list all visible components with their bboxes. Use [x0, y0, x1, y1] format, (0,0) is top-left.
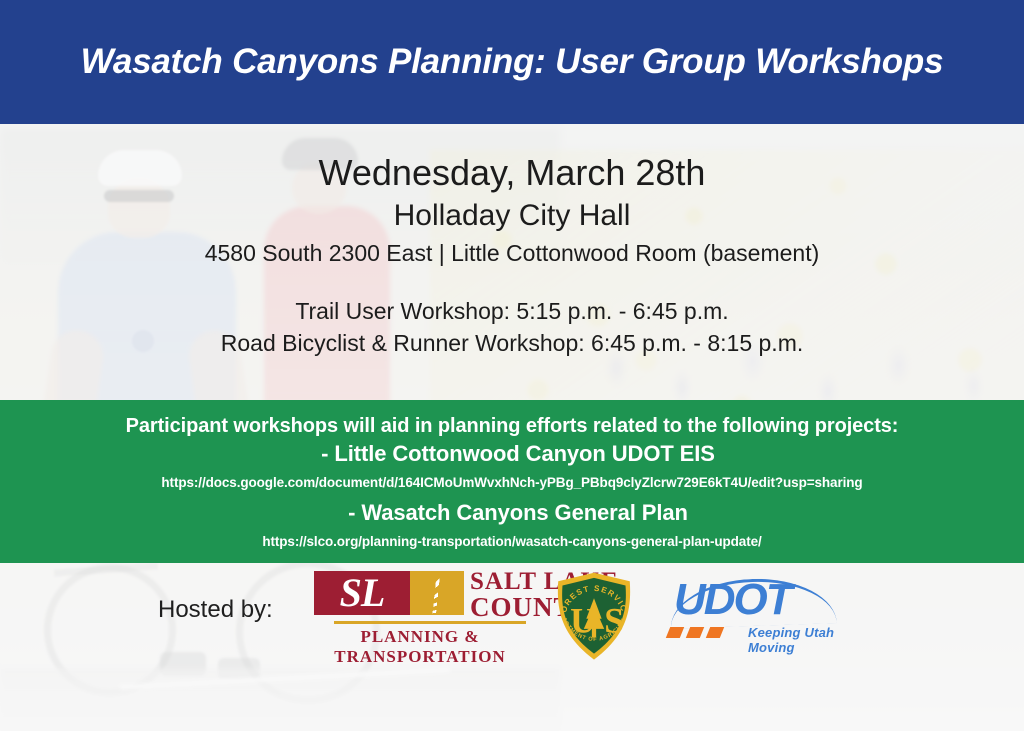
- udot-logo: UDOT Keeping Utah Moving: [660, 577, 840, 647]
- projects-band: Participant workshops will aid in planni…: [0, 400, 1024, 563]
- flyer-poster: Wasatch Canyons Planning: User Group Wor…: [0, 0, 1024, 731]
- session-item-road-bicyclist-runner: Road Bicyclist & Runner Workshop: 6:45 p…: [0, 327, 1024, 359]
- slco-divider-rule: [334, 621, 526, 624]
- page-title: Wasatch Canyons Planning: User Group Wor…: [81, 42, 944, 82]
- header-banner: Wasatch Canyons Planning: User Group Wor…: [0, 0, 1024, 124]
- projects-lead-text: Participant workshops will aid in planni…: [0, 400, 1024, 439]
- project-item-url-wasatch-general-plan[interactable]: https://slco.org/planning-transportation…: [0, 531, 1024, 553]
- project-item-url-lcc-udot-eis[interactable]: https://docs.google.com/document/d/164IC…: [0, 472, 1024, 494]
- event-details: Wednesday, March 28th Holladay City Hall…: [0, 150, 1024, 270]
- event-date: Wednesday, March 28th: [0, 150, 1024, 196]
- event-address: 4580 South 2300 East | Little Cottonwood…: [0, 236, 1024, 270]
- udot-wordmark: UDOT: [674, 577, 791, 623]
- session-item-trail-user: Trail User Workshop: 5:15 p.m. - 6:45 p.…: [0, 295, 1024, 327]
- project-item-name-wasatch-general-plan: - Wasatch Canyons General Plan: [0, 498, 1024, 528]
- slco-sunburst-icon: [410, 571, 464, 615]
- udot-tagline: Keeping Utah Moving: [748, 625, 840, 655]
- forest-service-shield-icon: FOREST SERVICE U S DEPARTMENT OF AGRICUL…: [551, 571, 637, 663]
- slco-department-lines: PLANNING & TRANSPORTATION: [314, 627, 526, 667]
- session-list: Trail User Workshop: 5:15 p.m. - 6:45 p.…: [0, 295, 1024, 359]
- footer-logos: Hosted by: SL SALT LAKE COUNTY PLANNING …: [0, 563, 1024, 731]
- project-item-name-lcc-udot-eis: - Little Cottonwood Canyon UDOT EIS: [0, 439, 1024, 469]
- slco-monogram-text: SL: [314, 571, 410, 615]
- event-venue: Holladay City Hall: [0, 196, 1024, 236]
- udot-speed-dashes-icon: [668, 627, 738, 639]
- salt-lake-county-logo: SL SALT LAKE COUNTY PLANNING & TRANSPORT…: [314, 571, 526, 663]
- slco-department-line-2: TRANSPORTATION: [314, 647, 526, 667]
- hosted-by-label: Hosted by:: [158, 596, 273, 624]
- salt-lake-county-wordmark: SL SALT LAKE COUNTY: [314, 571, 526, 617]
- us-forest-service-logo: FOREST SERVICE U S DEPARTMENT OF AGRICUL…: [551, 571, 637, 663]
- slco-department-line-1: PLANNING &: [314, 627, 526, 647]
